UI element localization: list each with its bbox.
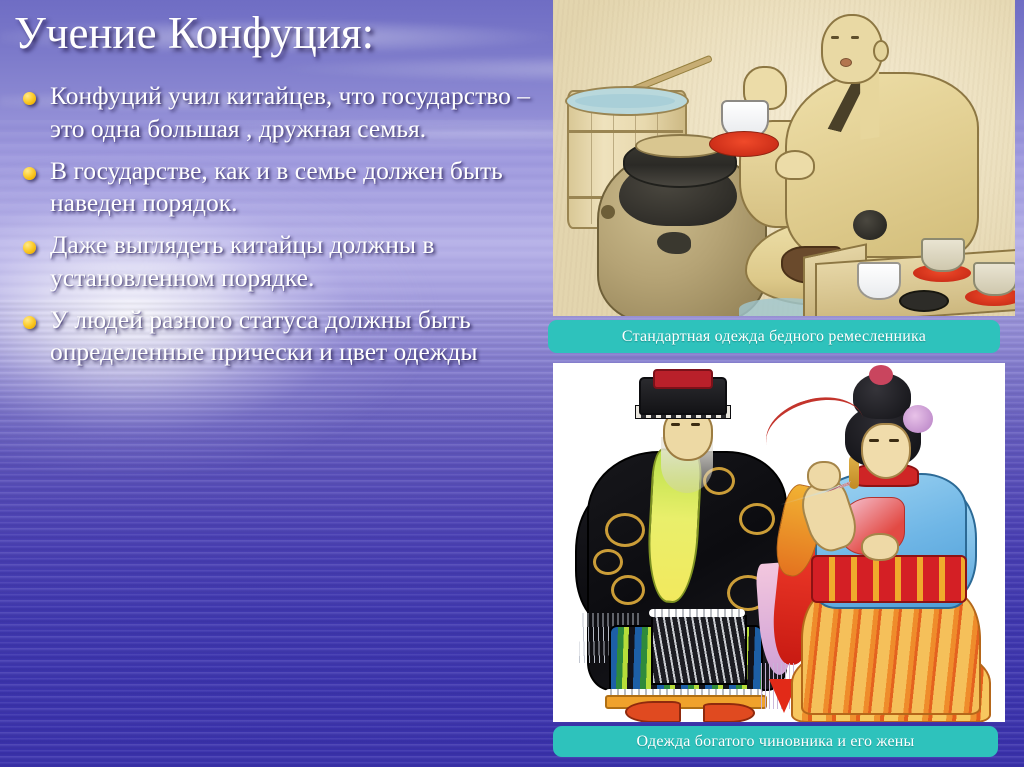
official-eye bbox=[671, 423, 680, 426]
wife-embroidered-belt bbox=[811, 555, 967, 603]
officials-illustration bbox=[553, 363, 1005, 722]
bullet-dot-icon bbox=[23, 92, 36, 105]
officials-canvas bbox=[553, 363, 1005, 722]
officials-caption: Одежда богатого чиновника и его жены bbox=[553, 726, 998, 757]
robe-gold-swirl bbox=[593, 549, 623, 575]
text-column: Учение Конфуция: Конфуций учил китайцев,… bbox=[0, 0, 548, 767]
wife-eye bbox=[869, 439, 879, 442]
list-item: Конфуций учил китайцев, что государство … bbox=[6, 80, 548, 146]
barrel-band bbox=[567, 130, 683, 133]
robe-gold-swirl bbox=[611, 575, 645, 605]
presentation-slide: Учение Конфуция: Конфуций учил китайцев,… bbox=[0, 0, 1024, 767]
bullet-text: Даже выглядеть китайцы должны в установл… bbox=[50, 230, 434, 292]
bullet-dot-icon bbox=[23, 241, 36, 254]
bullet-dot-icon bbox=[23, 167, 36, 180]
dark-bowl bbox=[899, 290, 949, 312]
bullet-dot-icon bbox=[23, 316, 36, 329]
artisan-illustration bbox=[553, 0, 1015, 316]
tea-cup bbox=[973, 262, 1015, 296]
official-shoe bbox=[625, 701, 681, 722]
bullet-text: Конфуций учил китайцев, что государство … bbox=[50, 81, 530, 143]
man-eye bbox=[831, 36, 839, 39]
official-hat-crest bbox=[653, 369, 713, 389]
official-apron bbox=[651, 615, 747, 685]
wife-flower-ornament bbox=[903, 405, 933, 433]
jar-handle bbox=[601, 205, 615, 219]
robe-gold-swirl bbox=[739, 503, 775, 535]
robe-gold-swirl bbox=[605, 513, 645, 547]
white-bowl bbox=[857, 262, 901, 300]
man-cloth-knot bbox=[853, 210, 887, 240]
bullet-list: Конфуций учил китайцев, что государство … bbox=[6, 80, 548, 378]
wife-skirt bbox=[801, 593, 981, 715]
tea-cup bbox=[921, 238, 965, 272]
caption-text: Одежда богатого чиновника и его жены bbox=[637, 733, 915, 751]
bullet-text: У людей разного статуса должны быть опре… bbox=[50, 305, 478, 367]
page-title: Учение Конфуция: bbox=[14, 8, 534, 58]
wife-hand bbox=[861, 533, 899, 561]
caption-text: Стандартная одежда бедного ремесленника bbox=[622, 328, 926, 346]
bullet-text: В государстве, как и в семье должен быть… bbox=[50, 156, 503, 218]
wife-eye bbox=[889, 439, 899, 442]
man-ear bbox=[873, 40, 889, 62]
man-eye bbox=[851, 36, 859, 39]
artisan-canvas bbox=[553, 0, 1015, 316]
official-eye bbox=[691, 423, 700, 426]
list-item: Даже выглядеть китайцы должны в установл… bbox=[6, 229, 548, 295]
barrel-water bbox=[575, 94, 675, 108]
list-item: В государстве, как и в семье должен быть… bbox=[6, 155, 548, 221]
official-shoe bbox=[703, 703, 755, 722]
red-cup-stand bbox=[709, 131, 779, 157]
artisan-caption: Стандартная одежда бедного ремесленника bbox=[548, 320, 1000, 353]
media-column: Стандартная одежда бедного ремесленника bbox=[548, 0, 1024, 767]
jar-patch bbox=[657, 232, 691, 254]
man-mouth bbox=[840, 58, 852, 67]
wife-hair-ornament bbox=[869, 365, 893, 385]
list-item: У людей разного статуса должны быть опре… bbox=[6, 304, 548, 370]
man-hand bbox=[775, 150, 815, 180]
pearl-trim bbox=[649, 609, 745, 617]
